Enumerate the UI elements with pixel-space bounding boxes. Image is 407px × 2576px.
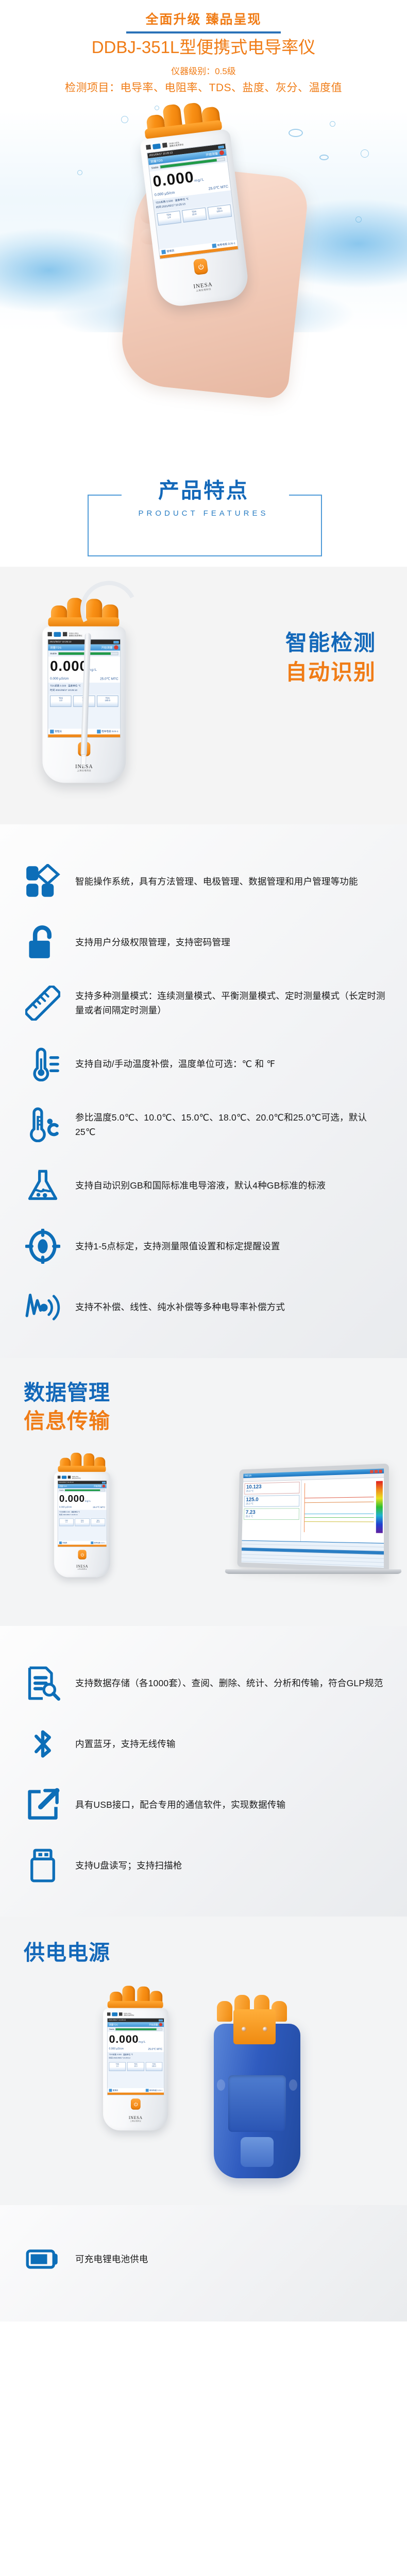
lcd-footer-3: 管理员 电导电极 DJS-1 (58, 1541, 106, 1545)
power-feature-list-section: 可充电锂电池供电 (0, 2205, 407, 2321)
document-search-icon (24, 1664, 62, 1702)
feature-item: 内置蓝牙，支持无线传输 (0, 1714, 407, 1774)
meter-body: DDBJ-351L便携式电导率仪 2021/05/17 10:25:13 测量T… (140, 129, 250, 309)
meter-model-label-2: DDBJ-351L便携式电导率仪 (69, 632, 82, 636)
lcd-standard-row-4: TDS1.0 TDS10.0 TDS100.0 (108, 2061, 164, 2073)
product-detail-page: 全面升级 臻品呈现 DDBJ-351L型便携式电导率仪 仪器级别：0.5级 检测… (0, 0, 407, 2321)
feature-text: 具有USB接口，配合专用的通信软件，实现数据传输 (75, 1798, 285, 1812)
meter-brand-bar-4: DDBJ-351L便携式电导率仪 (107, 2012, 164, 2016)
battery-clip (233, 2009, 276, 2044)
smart-banner-text: 智能检测 自动识别 (285, 629, 376, 687)
standard-beaker-1d: TDS1.0 (109, 2062, 126, 2071)
feature-item: 支持1-5点标定，支持测量限值设置和标定提醒设置 (0, 1216, 407, 1277)
lcd-info-panel-3: TDS系数 0.500 温度单位 ℃ 时间 2021/05/17 10:25:1… (58, 1510, 106, 1518)
software-chart-panel (300, 1478, 384, 1543)
lcd-tds-coeff-4: TDS系数 0.500 (109, 2053, 122, 2056)
lcd-mode-label: 测量TDS (150, 158, 163, 164)
lcd-datetime-4: 时间 2021/05/17 10:25:13 (109, 2057, 130, 2059)
features-title: 产品特点 (0, 473, 407, 504)
hero-grade: 仪器级别：0.5级 (0, 64, 407, 77)
lcd-conductivity: 0.000 µS/cm (155, 191, 175, 198)
lcd-temp-unit-4: 温度单位 ℃ (123, 2053, 133, 2056)
product-features-header: 产品特点 PRODUCT FEATURES (0, 453, 407, 567)
readout-card: 7.23 25.0 ℃ (244, 1508, 299, 1520)
lcd-mode-label-4: 测量TDS (109, 2023, 118, 2026)
lcd-sub-readings-4: 0.000 µS/cm 25.0℃ MTC (109, 2048, 163, 2051)
smart-line-2: 自动识别 (285, 658, 376, 687)
meter-lcd-screen: 2021/05/17 10:25:13 测量TDS 开始测量 Stable (147, 143, 239, 259)
meter-model-label-3: DDBJ-351L便携式电导率仪 (72, 1476, 81, 1479)
software-body: 10.123 25.0 ℃ 125.0 25.0 ℃ 7.23 25.0 ℃ (242, 1478, 384, 1543)
usb-export-icon (24, 1786, 62, 1824)
user-icon-2 (50, 730, 54, 733)
lcd-temperature-3: 25.0℃ MTC (93, 1506, 105, 1509)
lcd-main-value-3: 0.000mg/L (59, 1494, 105, 1504)
meter-lcd-screen-4: 2021/05/17 10:25:13 测量TDS 开始测量 (107, 2018, 164, 2095)
lcd-info-panel-4: TDS系数 0.500 温度单位 ℃ 时间 2021/05/17 10:25:1… (108, 2052, 164, 2061)
lcd-mode-label-2: 测量TDS (50, 646, 61, 650)
unlock-icon (24, 923, 62, 961)
lcd-time-4: 2021/05/17 10:25:13 (109, 2019, 126, 2021)
flask-icon (24, 1166, 62, 1205)
electrode-icon-3 (91, 1541, 93, 1544)
feature-list-section: 智能操作系统，具有方法管理、电极管理、数据管理和用户管理等功能 支持用户分级权限… (0, 824, 407, 1358)
feature-item: 支持用户分级权限管理，支持密码管理 (0, 912, 407, 973)
feature-item: 可充电锂电池供电 (0, 2229, 407, 2290)
lcd-battery-icon-2 (113, 641, 118, 643)
feature-text: 支持不补偿、线性、纯水补偿等多种电导率补偿方式 (75, 1300, 285, 1314)
lcd-mode-bar-3: 测量TDS 开始测量 (58, 1484, 106, 1488)
electrode-icon (212, 244, 216, 248)
brand-square-icon (146, 145, 151, 150)
hero-section: 全面升级 臻品呈现 DDBJ-351L型便携式电导率仪 仪器级别：0.5级 检测… (0, 0, 407, 453)
record-icon-4 (159, 2023, 162, 2026)
user-icon-3 (59, 1541, 62, 1544)
user-icon-4 (109, 2089, 112, 2092)
lcd-sub-readings-3: 0.000 µS/cm 25.0℃ MTC (59, 1506, 105, 1509)
readout-value: 7.23 (246, 1510, 297, 1515)
feature-item: 参比温度5.0℃、10.0℃、15.0℃、18.0℃、20.0℃和25.0℃可选… (0, 1094, 407, 1155)
feature-item: 智能操作系统，具有方法管理、电极管理、数据管理和用户管理等功能 (0, 851, 407, 912)
readout-card: 10.123 25.0 ℃ (244, 1482, 300, 1495)
electrode-caps-3 (54, 1451, 110, 1469)
lcd-mode-label-3: 测量TDS (59, 1485, 67, 1488)
power-button-3[interactable] (78, 1550, 87, 1560)
standard-beaker-2: TDS10.0 (182, 208, 207, 223)
lcd-mode-action-2: 开始测量 (101, 646, 112, 650)
meter-lcd-screen-3: 2021/05/17 10:25:13 测量TDS 开始测量 (58, 1481, 107, 1547)
target-icon (24, 1227, 62, 1265)
hero-measurement-items: 检测项目：电导率、电阻率、TDS、盐度、灰分、温度值 (0, 79, 407, 95)
back-cap-1 (217, 2001, 232, 2022)
lcd-datetime-3: 时间 2021/05/17 10:25:13 (59, 1514, 78, 1516)
hero-kicker: 全面升级 臻品呈现 (146, 9, 262, 30)
window-controls[interactable] (370, 1469, 382, 1473)
feature-item: 具有USB接口，配合专用的通信软件，实现数据传输 (0, 1774, 407, 1835)
user-icon (161, 250, 166, 255)
blocks-diamond-icon (24, 862, 62, 901)
meter-body-3: DDBJ-351L便携式电导率仪 2021/05/17 10:25:13 测量T… (54, 1472, 110, 1578)
feature-text: 支持U盘读写；支持扫描枪 (75, 1858, 182, 1873)
inesa-logo-icon-3 (62, 1476, 66, 1479)
meter-brand-bar-3: DDBJ-351L便携式电导率仪 (58, 1475, 107, 1479)
lcd-stable-bar-3 (65, 1489, 106, 1491)
lcd-temp-unit-2: 温度单位 ℃ (68, 684, 81, 687)
standard-beaker-3d: TDS100.0 (146, 2062, 163, 2071)
inesa-brand-mark-4: INESA上海仪电科仪 (129, 2115, 143, 2122)
data-header-line-2: 信息传输 (24, 1407, 407, 1435)
probe-tip (81, 754, 87, 767)
electrode-icon-4 (146, 2089, 149, 2092)
lcd-mode-bar-4: 测量TDS 开始测量 (108, 2022, 164, 2027)
power-button[interactable] (193, 258, 208, 275)
feature-item: 支持数据存储（各1000套）、查阅、删除、统计、分析和传输，符合GLP规范 (0, 1653, 407, 1714)
lcd-conductivity-2: 0.000 µS/cm (50, 677, 69, 681)
feature-text: 支持多种测量模式：连续测量模式、平衡测量模式、定时测量模式（长定时测量或者间隔定… (75, 989, 385, 1018)
lcd-time-3: 2021/05/17 10:25:13 (59, 1482, 73, 1484)
lcd-time-2: 2021/05/17 10:25:13 (49, 640, 71, 643)
feature-text: 支持自动/手动温度补偿，温度单位可选：℃ 和 ℉ (75, 1057, 275, 1071)
electrode-caps (135, 95, 229, 135)
lcd-stable-label-3: Stable (59, 1489, 64, 1492)
feature-text: 支持数据存储（各1000套）、查阅、删除、统计、分析和传输，符合GLP规范 (75, 1676, 383, 1690)
electrode-cap-base-3 (58, 1466, 106, 1472)
lcd-tds-coeff-3: TDS系数 0.500 (59, 1511, 70, 1513)
lcd-main-value-4: 0.000mg/L (109, 2034, 163, 2045)
feature-text: 支持自动识别GB和国际标准电导溶液，默认4种GB标准的标液 (75, 1178, 326, 1193)
lcd-battery-icon-3 (102, 1482, 106, 1483)
software-data-table[interactable] (241, 1540, 384, 1573)
lcd-user-3: 管理员 (62, 1542, 67, 1544)
feature-text: 支持1-5点标定，支持测量限值设置和标定提醒设置 (75, 1239, 280, 1253)
software-chart (304, 1481, 374, 1533)
laptop-with-software: INESA 10.123 25.0 ℃ 125.0 25.0 ℃ (232, 1466, 402, 1577)
meter-model-label-4: DDBJ-351L便携式电导率仪 (124, 2012, 134, 2016)
power-header-line-1: 供电电源 (24, 1935, 407, 1966)
screw-right (263, 2027, 267, 2031)
hero-device-photo: DDBJ-351L便携式电导率仪 2021/05/17 10:25:13 测量T… (0, 100, 407, 430)
lcd-battery-icon-4 (159, 2019, 163, 2021)
battery-cover-plate (228, 2075, 286, 2132)
conductivity-meter-front: DDBJ-351L便携式电导率仪 2021/05/17 10:25:13 测量T… (103, 1984, 168, 2130)
meter-back-body (214, 2024, 300, 2178)
laptop-screen: INESA 10.123 25.0 ℃ 125.0 25.0 ℃ (237, 1464, 389, 1573)
feature-text: 参比温度5.0℃、10.0℃、15.0℃、18.0℃、20.0℃和25.0℃可选… (75, 1110, 385, 1140)
meter-back-view (214, 1991, 300, 2178)
feature-text: 可充电锂电池供电 (75, 2252, 148, 2266)
smart-detect-banner: DDBJ-351L便携式电导率仪 2021/05/17 10:25:13 测量T… (0, 567, 407, 824)
feature-item: 支持自动/手动温度补偿，温度单位可选：℃ 和 ℉ (0, 1033, 407, 1094)
lcd-standard-row-3: TDS1.0 TDS10.0 TDS100.0 (58, 1518, 106, 1528)
lcd-temperature-4: 25.0℃ MTC (148, 2048, 162, 2051)
standard-beaker-3b: TDS100.0 (97, 696, 118, 707)
bluetooth-icon (24, 1725, 62, 1763)
side-grip-left (217, 2079, 225, 2091)
features-subtitle: PRODUCT FEATURES (0, 509, 407, 518)
inesa-brand-mark: INESA上海仪电科仪 (193, 281, 213, 293)
lcd-mode-action: 开始测量 (206, 151, 218, 157)
thermometer-celsius-icon (24, 1106, 62, 1144)
brand-square-2-icon-2 (63, 632, 67, 636)
lcd-conductivity-3: 0.000 µS/cm (59, 1506, 72, 1509)
chart-legend (376, 1481, 383, 1533)
lcd-bottom-accent-3 (58, 1545, 106, 1547)
standard-beaker-3c: TDS100.0 (91, 1518, 105, 1526)
power-button-4[interactable] (131, 2098, 141, 2110)
lcd-tds-coeff-2: TDS系数 0.500 (50, 684, 66, 687)
thermometer-lines-icon (24, 1045, 62, 1083)
inesa-brand-mark-3: INESA上海仪电科仪 (76, 1565, 88, 1570)
lcd-stable-bar-4 (115, 2028, 162, 2030)
record-icon (219, 150, 224, 155)
lcd-temperature: 25.0℃ MTC (208, 184, 228, 191)
electrode-icon-2 (97, 730, 100, 733)
lcd-stable-row-4: Stable (108, 2027, 164, 2031)
lcd-bottom-accent-4 (108, 2093, 164, 2095)
data-feature-list-section: 支持数据存储（各1000套）、查阅、删除、统计、分析和传输，符合GLP规范 内置… (0, 1626, 407, 1917)
side-grip-right (289, 2079, 297, 2091)
standard-beaker-2c: TDS10.0 (75, 1518, 90, 1526)
conductivity-meter-small: DDBJ-351L便携式电导率仪 2021/05/17 10:25:13 测量T… (54, 1451, 110, 1578)
brand-square-icon-4 (107, 2012, 110, 2015)
standard-beaker-1b: TDS1.0 (50, 696, 72, 707)
standard-beaker-1: TDS1.0 (157, 211, 181, 226)
lcd-mode-action-3: 开始测量 (94, 1485, 101, 1488)
hero-title-block: 全面升级 臻品呈现 DDBJ-351L型便携式电导率仪 仪器级别：0.5级 检测… (0, 0, 407, 95)
hero-model-title: DDBJ-351L型便携式电导率仪 (0, 37, 407, 58)
feature-text: 内置蓝牙，支持无线传输 (75, 1737, 176, 1751)
lcd-user: 管理员 (166, 249, 175, 253)
feature-text: 支持用户分级权限管理，支持密码管理 (75, 935, 230, 950)
inesa-logo-icon-4 (112, 2012, 117, 2016)
battery-latch-tab (241, 2137, 274, 2167)
lcd-electrode-2: 电导电极 DJS-1 (101, 731, 118, 734)
readout-temp: 25.0 ℃ (246, 1489, 298, 1493)
data-management-header: 数据管理 信息传输 (0, 1358, 407, 1626)
usb-drive-icon (24, 1846, 62, 1885)
lcd-stable-label: Stable (151, 166, 159, 170)
lcd-user-2: 管理员 (55, 731, 62, 734)
feature-item: 支持不补偿、线性、纯水补偿等多种电导率补偿方式 (0, 1277, 407, 1337)
lcd-temp-unit-3: 温度单位 ℃ (71, 1511, 80, 1513)
lcd-battery-icon (218, 145, 224, 148)
battery-icon (24, 2240, 62, 2278)
brand-square-2-icon-3 (68, 1476, 71, 1479)
readout-temp: 25.0 ℃ (246, 1515, 297, 1518)
hero-kicker-underline (126, 31, 281, 33)
standard-beaker-2d: TDS10.0 (127, 2062, 144, 2071)
lcd-datetime-2: 时间 2021/05/17 10:25:13 (50, 688, 77, 691)
readout-temp: 25.0 ℃ (246, 1502, 297, 1505)
lcd-temperature-2: 25.0℃ MTC (100, 677, 118, 681)
lcd-footer-4: 管理员 电导电极 DJS-1 (108, 2088, 164, 2093)
lcd-electrode-3: 电导电极 DJS-1 (94, 1542, 105, 1544)
lcd-stable-label-4: Stable (109, 2028, 114, 2030)
waveform-signal-icon (24, 1288, 62, 1326)
meter-body-4: DDBJ-351L便携式电导率仪 2021/05/17 10:25:13 测量T… (103, 2008, 168, 2131)
software-readout-panel: 10.123 25.0 ℃ 125.0 25.0 ℃ 7.23 25.0 ℃ (242, 1480, 301, 1541)
lcd-user-4: 管理员 (113, 2089, 118, 2091)
screw-left (242, 2027, 246, 2031)
inesa-logo-icon (152, 143, 161, 149)
ruler-icon (24, 984, 62, 1022)
brand-square-2-icon (162, 143, 167, 148)
conductivity-meter: DDBJ-351L便携式电导率仪 2021/05/17 10:25:13 测量T… (135, 95, 250, 308)
inesa-logo-icon-2 (54, 632, 61, 636)
lcd-status-bar-4: 2021/05/17 10:25:13 (108, 2019, 164, 2022)
lcd-electrode-4: 电导电极 DJS-1 (149, 2089, 162, 2091)
feature-item: 支持自动识别GB和国际标准电导溶液，默认4种GB标准的标液 (0, 1155, 407, 1216)
lcd-mode-action-4: 开始测量 (149, 2023, 158, 2026)
feature-text: 智能操作系统，具有方法管理、电极管理、数据管理和用户管理等功能 (75, 874, 358, 889)
brand-square-2-icon-4 (119, 2012, 122, 2015)
record-icon-3 (103, 1485, 106, 1488)
meter-model-label: DDBJ-351L便携式电导率仪 (169, 140, 184, 147)
record-icon-2 (114, 646, 118, 650)
readout-card: 125.0 25.0 ℃ (244, 1495, 300, 1507)
electrode-cap-base-4 (108, 2001, 163, 2008)
power-section-photo: DDBJ-351L便携式电导率仪 2021/05/17 10:25:13 测量T… (0, 1984, 407, 2205)
brand-square-icon-3 (58, 1476, 61, 1479)
smart-line-1: 智能检测 (285, 629, 376, 658)
data-header-line-1: 数据管理 (24, 1379, 407, 1407)
standard-beaker-3: TDS100.0 (207, 205, 232, 219)
feature-item: 支持U盘读写；支持扫描枪 (0, 1835, 407, 1896)
brand-square-icon-2 (48, 632, 52, 636)
lcd-reading-area-3: 0.000mg/L 0.000 µS/cm 25.0℃ MTC (58, 1493, 106, 1510)
power-supply-header: 供电电源 DDB (0, 1917, 407, 2205)
lcd-stable-label-2: Stable (50, 652, 57, 655)
data-header-photo: DDBJ-351L便携式电导率仪 2021/05/17 10:25:13 测量T… (0, 1446, 407, 1626)
lcd-conductivity-4: 0.000 µS/cm (109, 2048, 124, 2051)
lcd-reading-area-4: 0.000mg/L 0.000 µS/cm 25.0℃ MTC (108, 2032, 164, 2053)
lcd-stable-row-3: Stable (58, 1488, 106, 1493)
electrode-caps-4 (103, 1984, 168, 2005)
feature-item: 支持多种测量模式：连续测量模式、平衡测量模式、定时测量模式（长定时测量或者间隔定… (0, 973, 407, 1033)
standard-beaker-1c: TDS1.0 (59, 1518, 74, 1526)
